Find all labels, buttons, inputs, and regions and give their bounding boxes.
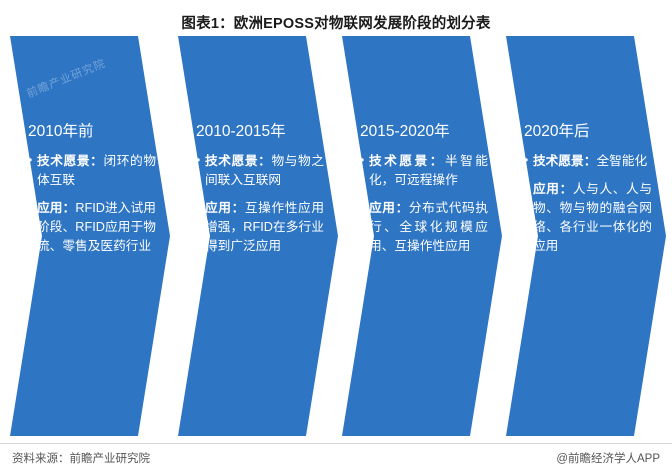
stage-label-2: 2010-2015年	[196, 122, 324, 141]
credit-note: @前瞻经济学人APP	[556, 450, 660, 466]
bullet-key: 应用：	[205, 201, 245, 215]
stage-content-2: 2010-2015年 技术愿景：物与物之间联入互联网 应用：互操作性应用增强，R…	[178, 36, 338, 436]
stage-bullets-2: 技术愿景：物与物之间联入互联网 应用：互操作性应用增强，RFID在多行业得到广泛…	[196, 152, 324, 255]
bullet-item: 应用：互操作性应用增强，RFID在多行业得到广泛应用	[196, 199, 324, 255]
stage-content-3: 2015-2020年 技术愿景：半智能化，可远程操作 应用：分布式代码执行、全球…	[342, 36, 502, 436]
page-title: 图表1：欧洲EPOSS对物联网发展阶段的划分表	[0, 12, 672, 33]
stage-label-4: 2020年后	[524, 122, 652, 141]
stage-bullets-3: 技术愿景：半智能化，可远程操作 应用：分布式代码执行、全球化规模应用、互操作性应…	[360, 152, 488, 255]
bullet-text: 全智能化	[596, 154, 647, 168]
stage-content-1: 2010年前 技术愿景：闭环的物体互联 应用：RFID进入试用阶段、RFID应用…	[10, 36, 170, 436]
bullet-item: 应用：人与人、人与物、物与物的融合网络、各行业一体化的应用	[524, 180, 652, 255]
stage-label-1: 2010年前	[28, 122, 156, 141]
bullet-item: 技术愿景：闭环的物体互联	[28, 152, 156, 190]
bullet-key: 技术愿景：	[533, 154, 596, 168]
stages-container: 前瞻产业研究院 2010年前 技术愿景：闭环的物体互联 应用：RFID进入试用阶…	[0, 36, 672, 436]
stage-arrow-3[interactable]: 前瞻产业研究院 2015-2020年 技术愿景：半智能化，可远程操作 应用：分布…	[342, 36, 502, 436]
bullet-item: 技术愿景：半智能化，可远程操作	[360, 152, 488, 190]
bullet-item: 技术愿景：全智能化	[524, 152, 652, 171]
stage-content-4: 2020年后 技术愿景：全智能化 应用：人与人、人与物、物与物的融合网络、各行业…	[506, 36, 666, 436]
bullet-key: 应用：	[37, 201, 75, 215]
bullet-key: 应用：	[369, 201, 409, 215]
bullet-key: 技术愿景：	[205, 154, 271, 168]
stage-bullets-4: 技术愿景：全智能化 应用：人与人、人与物、物与物的融合网络、各行业一体化的应用	[524, 152, 652, 255]
bullet-key: 技术愿景：	[369, 154, 445, 168]
bullet-item: 技术愿景：物与物之间联入互联网	[196, 152, 324, 190]
stage-arrow-4[interactable]: 2020年后 技术愿景：全智能化 应用：人与人、人与物、物与物的融合网络、各行业…	[506, 36, 666, 436]
diagram-page: 图表1：欧洲EPOSS对物联网发展阶段的划分表 前瞻产业研究院 2010年前 技…	[0, 0, 672, 476]
footer-divider	[0, 443, 672, 444]
stage-arrow-1[interactable]: 前瞻产业研究院 2010年前 技术愿景：闭环的物体互联 应用：RFID进入试用阶…	[10, 36, 170, 436]
stage-arrow-2[interactable]: 前瞻产业研究院 2010-2015年 技术愿景：物与物之间联入互联网 应用：互操…	[178, 36, 338, 436]
stage-label-3: 2015-2020年	[360, 122, 488, 141]
source-note: 资料来源：前瞻产业研究院	[12, 450, 150, 466]
bullet-key: 应用：	[533, 182, 573, 196]
bullet-key: 技术愿景：	[37, 154, 103, 168]
stage-bullets-1: 技术愿景：闭环的物体互联 应用：RFID进入试用阶段、RFID应用于物流、零售及…	[28, 152, 156, 255]
bullet-item: 应用：分布式代码执行、全球化规模应用、互操作性应用	[360, 199, 488, 255]
bullet-item: 应用：RFID进入试用阶段、RFID应用于物流、零售及医药行业	[28, 199, 156, 255]
